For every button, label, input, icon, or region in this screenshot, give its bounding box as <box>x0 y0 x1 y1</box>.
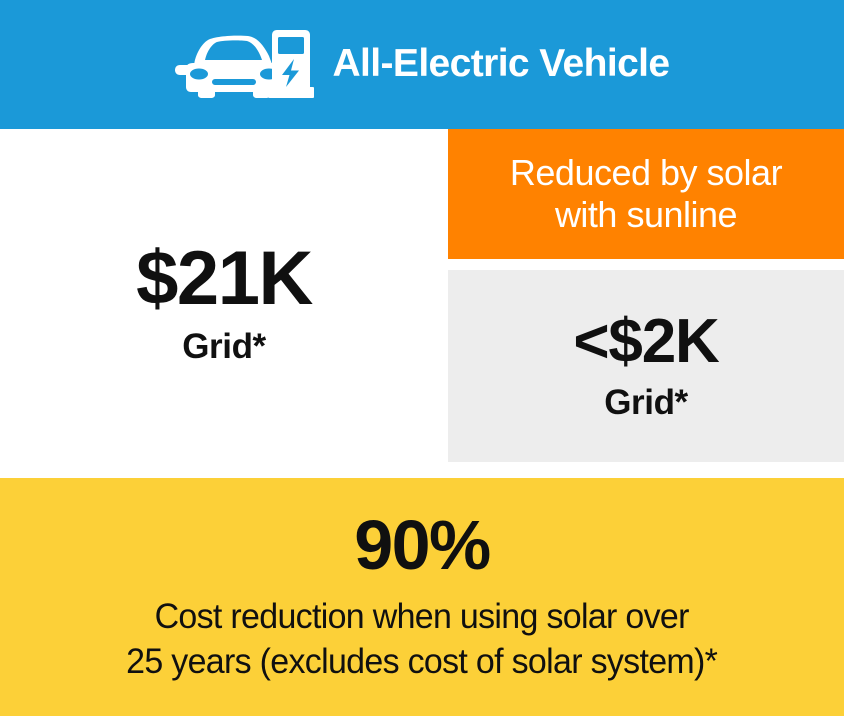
solar-reduction-banner: Reduced by solar with sunline <box>448 129 844 259</box>
savings-percentage: 90% <box>354 510 490 580</box>
ev-car-charging-station-icon <box>174 29 314 101</box>
savings-description-line2: 25 years (excludes cost of solar system)… <box>126 639 717 685</box>
comparison-section: $21K Grid* Reduced by solar with sunline… <box>0 129 844 478</box>
header-banner: All-Electric Vehicle <box>0 0 844 129</box>
grid-cost-label: Grid* <box>182 329 266 364</box>
header-title: All-Electric Vehicle <box>332 44 669 83</box>
grid-cost-panel: $21K Grid* <box>0 129 448 478</box>
ev-cost-infographic: All-Electric Vehicle $21K Grid* Reduced … <box>0 0 844 716</box>
savings-summary-banner: 90% Cost reduction when using solar over… <box>0 478 844 716</box>
solar-banner-text: Reduced by solar with sunline <box>500 152 792 236</box>
solar-cost-panel: <$2K Grid* <box>448 270 844 462</box>
savings-description-line1: Cost reduction when using solar over <box>126 594 717 640</box>
grid-cost-value: $21K <box>136 243 312 316</box>
solar-cost-label: Grid* <box>604 385 688 420</box>
solar-banner-line1: Reduced by solar <box>510 152 782 193</box>
savings-description: Cost reduction when using solar over 25 … <box>126 594 717 685</box>
solar-cost-value: <$2K <box>573 312 718 373</box>
solar-banner-line2: with sunline <box>555 194 737 235</box>
